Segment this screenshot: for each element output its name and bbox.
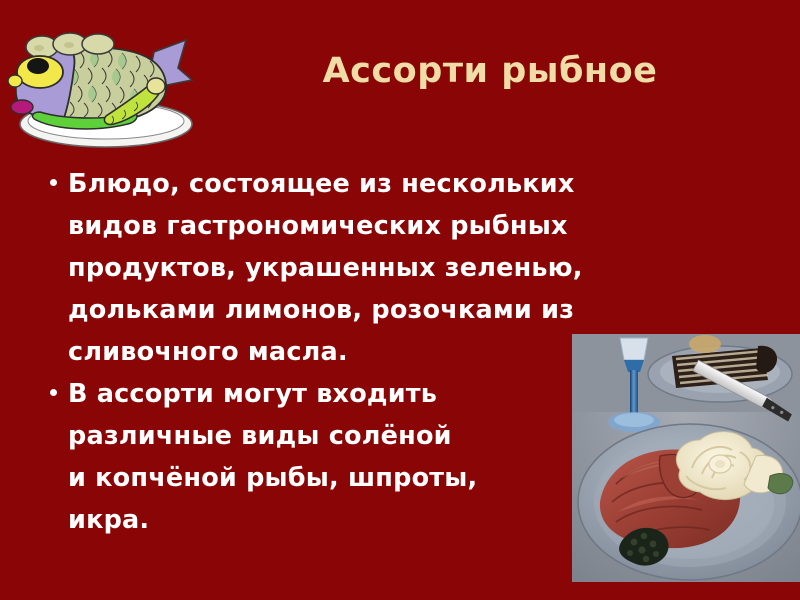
bullet-1-line-1: Блюдо, состоящее из нескольких bbox=[68, 163, 664, 205]
bullet-1-line-3: продуктов, украшенных зеленью, bbox=[68, 247, 664, 289]
slide-canvas: Ассорти рыбное bbox=[0, 0, 800, 600]
slide-body-text: Блюдо, состоящее из нескольких видов гас… bbox=[44, 163, 664, 541]
bullet-1-line-2: видов гастрономических рыбных bbox=[68, 205, 664, 247]
bullet-dot-icon bbox=[50, 179, 57, 186]
bullet-2-line-2: различные виды солёной bbox=[68, 415, 664, 457]
bullet-item-1: Блюдо, состоящее из нескольких видов гас… bbox=[44, 163, 664, 373]
bullet-dot-icon bbox=[50, 389, 57, 396]
bullet-2-line-3: и копчёной рыбы, шпроты, bbox=[68, 457, 664, 499]
bullet-1-line-5: сливочного масла. bbox=[68, 331, 664, 373]
bullet-2-line-1: В ассорти могут входить bbox=[68, 373, 664, 415]
bullet-2-line-4: икра. bbox=[68, 499, 664, 541]
bullet-item-2: В ассорти могут входить различные виды с… bbox=[44, 373, 664, 541]
fish-on-platter-clipart bbox=[6, 24, 202, 150]
slide-title: Ассорти рыбное bbox=[250, 52, 730, 91]
bullet-1-line-4: дольками лимонов, розочками из bbox=[68, 289, 664, 331]
